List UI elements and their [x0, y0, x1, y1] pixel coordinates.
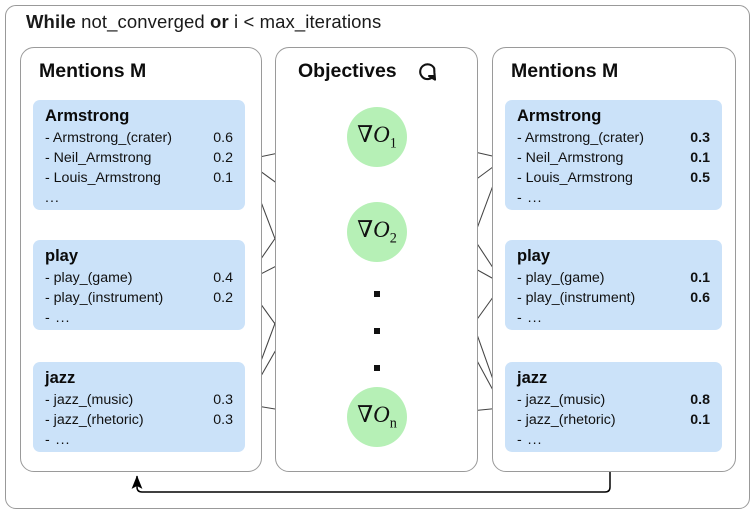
entry-label: - Armstrong_(crater) — [45, 128, 180, 148]
entry-label: - jazz_(rhetoric) — [45, 410, 152, 430]
entry-score: 0.3 — [213, 390, 233, 410]
mention-box-play-input[interactable]: play - play_(game) 0.4 - play_(instrumen… — [33, 240, 245, 330]
entry-label: - Armstrong_(crater) — [517, 128, 652, 148]
entry-label: - play_(instrument) — [517, 288, 643, 308]
mention-entry: - Armstrong_(crater) 0.6 — [45, 128, 233, 148]
mention-entry: - jazz_(rhetoric) 0.1 — [517, 410, 710, 430]
objectives-panel-title: Objectives — [298, 60, 397, 83]
mention-name: play — [45, 246, 233, 267]
objective-node-1-label: ∇O1 — [357, 122, 397, 153]
entry-score: 0.2 — [213, 148, 233, 168]
vertical-ellipsis-dot — [374, 328, 380, 334]
mention-entry: - jazz_(music) 0.8 — [517, 390, 710, 410]
entry-label: - Louis_Armstrong — [517, 168, 641, 188]
mention-entry: - Neil_Armstrong 0.2 — [45, 148, 233, 168]
mention-name: jazz — [517, 368, 710, 389]
entry-score: 0.4 — [213, 268, 233, 288]
entry-label: - jazz_(music) — [45, 390, 141, 410]
loop-keyword-or: or — [210, 11, 229, 32]
mention-entry: - Armstrong_(crater) 0.3 — [517, 128, 710, 148]
mention-entry: - play_(game) 0.1 — [517, 268, 710, 288]
mention-entry: - jazz_(music) 0.3 — [45, 390, 233, 410]
mention-name: Armstrong — [45, 106, 233, 127]
entry-label: - play_(game) — [45, 268, 141, 288]
entry-score: 0.1 — [690, 410, 710, 430]
mention-name: play — [517, 246, 710, 267]
entry-score: 0.3 — [690, 128, 710, 148]
mention-entry: - play_(instrument) 0.2 — [45, 288, 233, 308]
entry-ellipsis: - ... — [45, 308, 233, 328]
entry-ellipsis: - ... — [517, 430, 710, 450]
vertical-ellipsis-dot — [374, 365, 380, 371]
entry-label: - jazz_(rhetoric) — [517, 410, 624, 430]
objective-node-1[interactable]: ∇O1 — [347, 107, 407, 167]
mention-entry: - jazz_(rhetoric) 0.3 — [45, 410, 233, 430]
mention-entry: - Louis_Armstrong 0.5 — [517, 168, 710, 188]
mention-name: Armstrong — [517, 106, 710, 127]
entry-score: 0.1 — [690, 148, 710, 168]
mention-box-armstrong-output[interactable]: Armstrong - Armstrong_(crater) 0.3 - Nei… — [505, 100, 722, 210]
mention-name: jazz — [45, 368, 233, 389]
entry-score: 0.6 — [213, 128, 233, 148]
vertical-ellipsis-dot — [374, 291, 380, 297]
mention-entry: - Neil_Armstrong 0.1 — [517, 148, 710, 168]
entry-score: 0.1 — [213, 168, 233, 188]
entry-label: - Louis_Armstrong — [45, 168, 169, 188]
entry-ellipsis: ... — [45, 188, 233, 208]
mention-box-armstrong-input[interactable]: Armstrong - Armstrong_(crater) 0.6 - Nei… — [33, 100, 245, 210]
entry-ellipsis: - ... — [45, 430, 233, 450]
entry-label: - play_(instrument) — [45, 288, 171, 308]
entry-label: - Neil_Armstrong — [517, 148, 631, 168]
entry-label: - play_(game) — [517, 268, 613, 288]
entry-label: - Neil_Armstrong — [45, 148, 159, 168]
circular-arrow-icon — [416, 60, 440, 84]
left-panel-title: Mentions M — [39, 60, 146, 83]
diagram-canvas: While not_converged or i < max_iteration… — [0, 0, 755, 516]
entry-score: 0.5 — [690, 168, 710, 188]
entry-label: - jazz_(music) — [517, 390, 613, 410]
mention-box-play-output[interactable]: play - play_(game) 0.1 - play_(instrumen… — [505, 240, 722, 330]
loop-condition-header: While not_converged or i < max_iteration… — [26, 11, 381, 33]
entry-score: 0.3 — [213, 410, 233, 430]
entry-score: 0.2 — [213, 288, 233, 308]
objective-node-n-label: ∇On — [357, 402, 397, 433]
entry-ellipsis: - ... — [517, 188, 710, 208]
entry-score: 0.8 — [690, 390, 710, 410]
entry-score: 0.6 — [690, 288, 710, 308]
entry-score: 0.1 — [690, 268, 710, 288]
mention-entry: - play_(game) 0.4 — [45, 268, 233, 288]
loop-keyword-while: While — [26, 11, 76, 32]
mention-box-jazz-output[interactable]: jazz - jazz_(music) 0.8 - jazz_(rhetoric… — [505, 362, 722, 452]
mention-entry: - play_(instrument) 0.6 — [517, 288, 710, 308]
objective-node-2-label: ∇O2 — [357, 217, 397, 248]
mention-box-jazz-input[interactable]: jazz - jazz_(music) 0.3 - jazz_(rhetoric… — [33, 362, 245, 452]
objective-node-n[interactable]: ∇On — [347, 387, 407, 447]
loop-condition-a: not_converged — [81, 11, 205, 32]
entry-ellipsis: - ... — [517, 308, 710, 328]
objective-node-2[interactable]: ∇O2 — [347, 202, 407, 262]
right-panel-title: Mentions M — [511, 60, 618, 83]
mention-entry: - Louis_Armstrong 0.1 — [45, 168, 233, 188]
loop-condition-b: i < max_iterations — [234, 11, 381, 32]
